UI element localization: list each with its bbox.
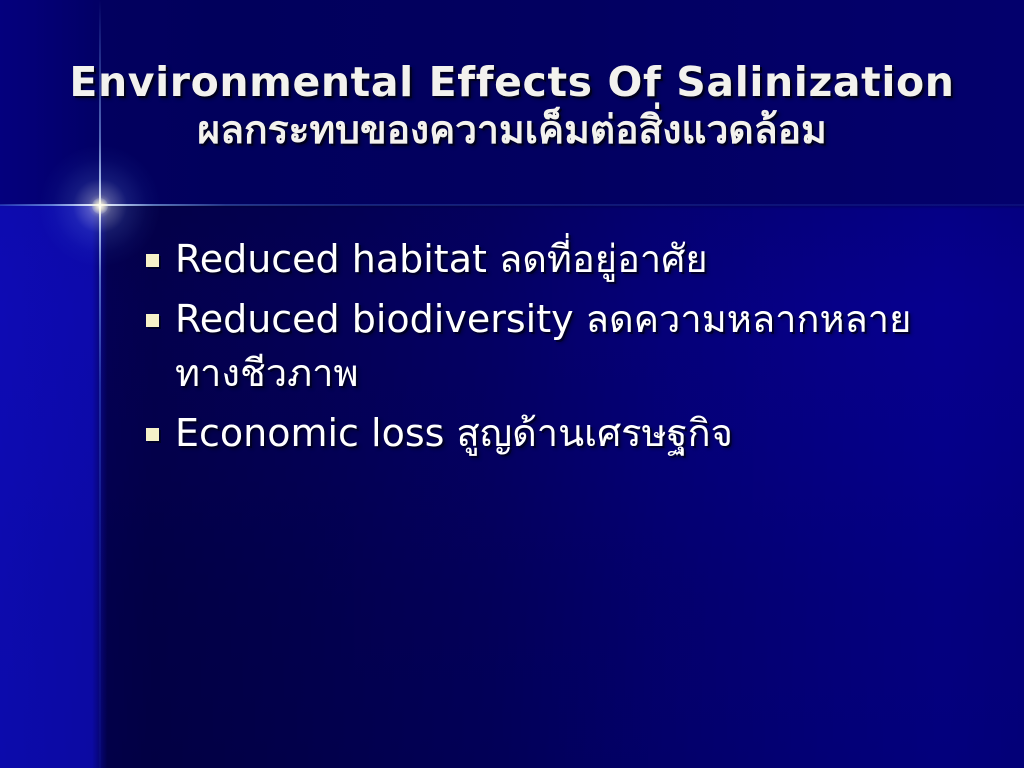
sparkle-core-icon <box>92 198 108 214</box>
list-item-label: Economic loss สูญด้านเศรษฐกิจ <box>175 406 946 460</box>
list-item: Economic loss สูญด้านเศรษฐกิจ <box>146 406 946 460</box>
bullet-square-icon <box>146 254 159 267</box>
list-item: Reduced biodiversity ลดความหลากหลายทางชี… <box>146 292 946 400</box>
slide-bullet-list: Reduced habitat ลดที่อยู่อาศัย Reduced b… <box>146 232 946 466</box>
list-item-label: Reduced biodiversity ลดความหลากหลายทางชี… <box>175 292 946 400</box>
bullet-square-icon <box>146 314 159 327</box>
list-item: Reduced habitat ลดที่อยู่อาศัย <box>146 232 946 286</box>
bullet-square-icon <box>146 428 159 441</box>
list-item-label: Reduced habitat ลดที่อยู่อาศัย <box>175 232 946 286</box>
presentation-slide: Environmental Effects Of Salinization ผล… <box>0 0 1024 768</box>
slide-title-thai: ผลกระทบของความเค็มต่อสิ่งแวดล้อม <box>0 106 1024 156</box>
slide-title: Environmental Effects Of Salinization ผล… <box>0 58 1024 156</box>
slide-title-english: Environmental Effects Of Salinization <box>0 58 1024 106</box>
